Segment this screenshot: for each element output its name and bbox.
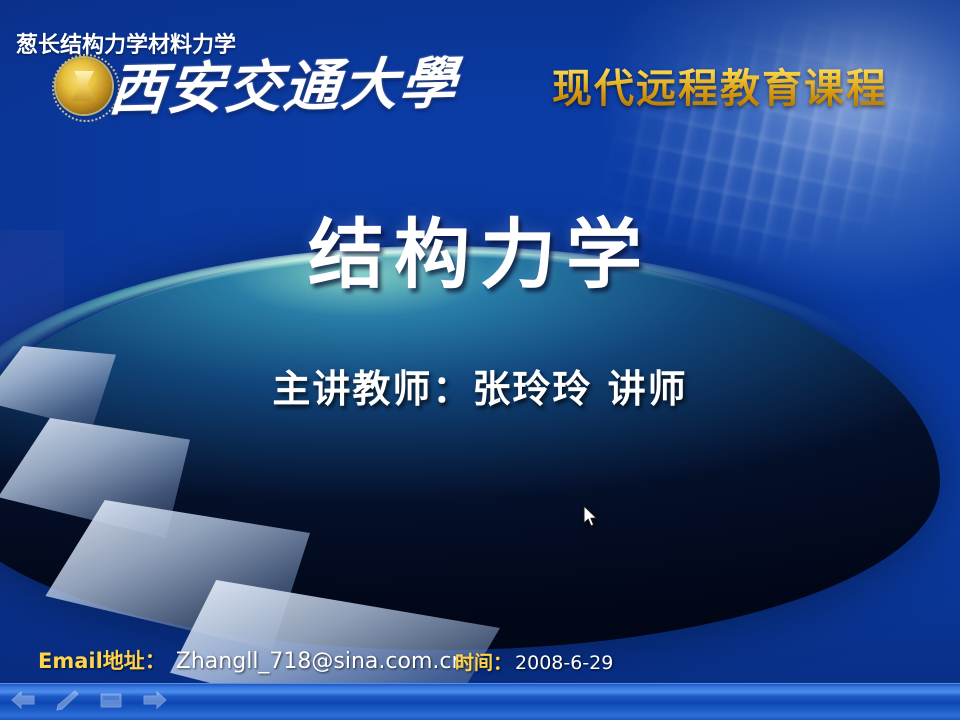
pen-tool-icon[interactable] <box>54 689 80 711</box>
date-label: 时间： <box>455 648 512 675</box>
control-icon-group <box>10 689 168 711</box>
email-label: Email地址： <box>38 645 166 675</box>
page-title: 结构力学 <box>0 193 960 303</box>
xjtu-emblem-icon <box>56 58 112 114</box>
slideshow-control-bar[interactable] <box>0 683 960 720</box>
mouse-cursor <box>583 505 599 529</box>
university-name-calligraphy: 西安交通大學 <box>106 38 462 126</box>
email-footer: Email地址： Zhangll_718@sina.com.cn <box>38 645 465 675</box>
previous-slide-icon[interactable] <box>10 689 36 711</box>
instructor-line: 主讲教师：张玲玲 讲师 <box>0 358 960 413</box>
course-banner-title: 现代远程教育课程 <box>552 56 888 114</box>
presentation-slide: 葱长结构力学材料力学 西安交通大學 现代远程教育课程 结构力学 主讲教师：张玲玲… <box>0 0 960 720</box>
slideshow-menu-icon[interactable] <box>98 689 124 711</box>
date-value: 2008-6-29 <box>515 652 613 674</box>
next-slide-icon[interactable] <box>142 689 168 711</box>
email-value: Zhangll_718@sina.com.cn <box>176 649 466 674</box>
date-footer: 时间： 2008-6-29 <box>455 648 613 675</box>
